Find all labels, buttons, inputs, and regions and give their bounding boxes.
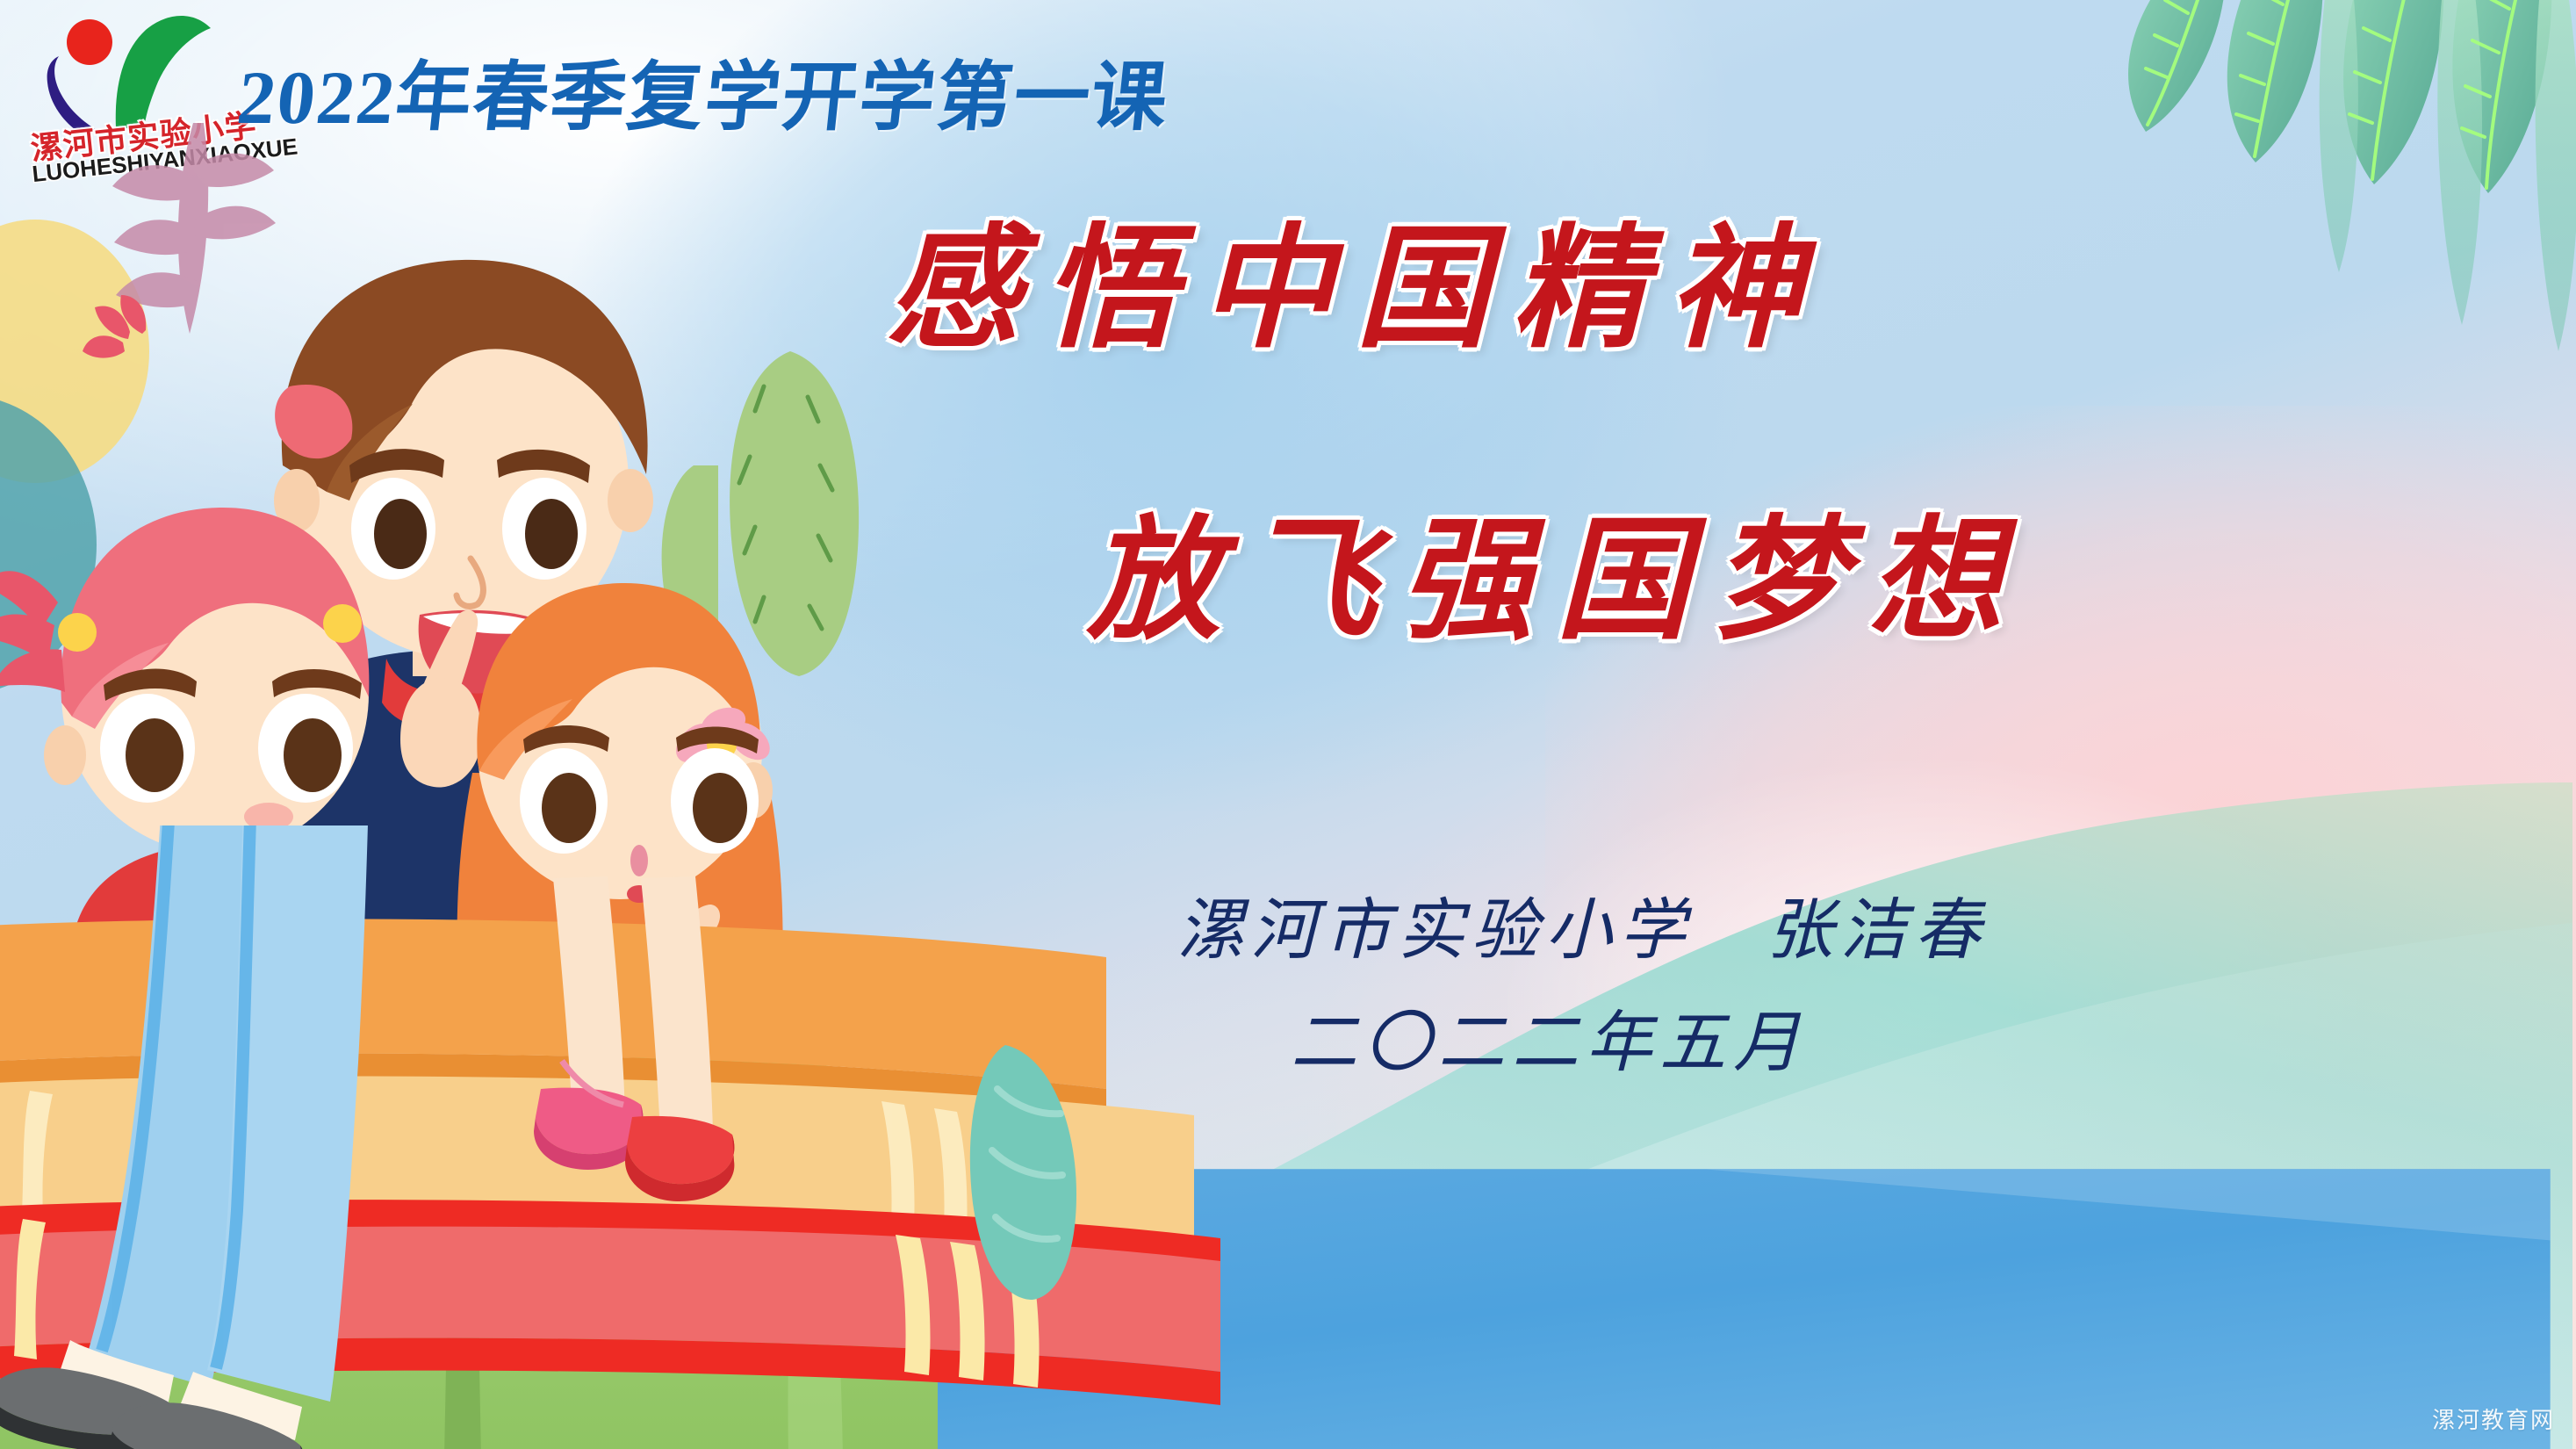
book-stack-and-legs [0, 825, 1247, 1449]
logo-red-dot-icon [67, 19, 112, 65]
hero-title-line-1: 感悟中国精神 [887, 223, 1824, 357]
slide-canvas: 漯河市实验小学 LUOHESHIYANXIAOXUE 2022年春季复学开学第一… [0, 0, 2576, 1449]
credit-date: 二〇二二年五月 [1291, 1010, 1807, 1077]
leaf-cluster-icon [2093, 0, 2576, 430]
site-watermark: 漯河教育网 [2432, 1402, 2555, 1435]
credit-school-and-author: 漯河市实验小学 张洁春 [1176, 898, 1988, 964]
hero-title-line-2: 放飞强国梦想 [1087, 515, 2025, 648]
hair-tie-right-icon [323, 604, 362, 643]
